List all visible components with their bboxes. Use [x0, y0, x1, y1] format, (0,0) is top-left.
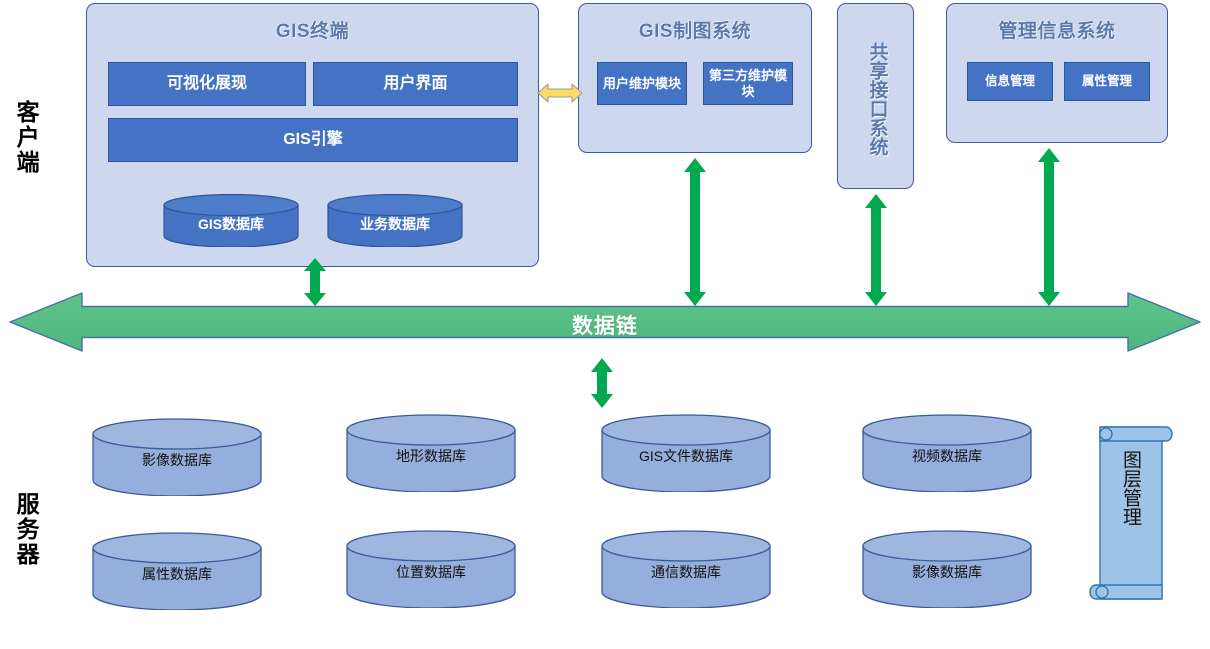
system-title-management-info: 管理信息系统 [947, 16, 1167, 43]
cylinder-shape [92, 532, 262, 610]
system-box-gis-mapping[interactable]: GIS制图系统 用户维护模块 第三方维护模块 [578, 3, 812, 153]
cylinder-shape [327, 194, 463, 247]
zone-label-server: 服务器 [14, 492, 38, 567]
cylinder-shape [601, 530, 771, 608]
server-database-gis-file[interactable]: GIS文件数据库 [601, 414, 771, 492]
cylinder-shape [346, 530, 516, 608]
connector-terminal-to-mapping-arrow [537, 80, 583, 111]
system-title-share-interface: 共享接口系统 [864, 42, 888, 156]
server-database-communication[interactable]: 通信数据库 [601, 530, 771, 608]
server-database-terrain[interactable]: 地形数据库 [346, 414, 516, 492]
double-arrow-horizontal-icon [537, 80, 583, 106]
layer-manager-scroll[interactable]: 图层管理 [1088, 418, 1174, 608]
double-arrow-vertical-icon [863, 194, 889, 306]
architecture-diagram: 客户端 服务器 GIS终端 可视化展现 用户界面 GIS引擎 GIS数据库 业务… [0, 0, 1210, 649]
double-arrow-vertical-icon [589, 358, 615, 408]
layer-manager-label: 图层管理 [1119, 450, 1143, 526]
system-title-gis-mapping: GIS制图系统 [579, 16, 811, 43]
server-database-image[interactable]: 影像数据库 [92, 418, 262, 496]
cylinder-shape [862, 414, 1032, 492]
system-box-share-interface[interactable]: 共享接口系统 [837, 3, 914, 189]
module-third-party-maintenance[interactable]: 第三方维护模块 [703, 62, 793, 105]
datalink-label: 数据链 [8, 310, 1202, 340]
cylinder-shape [346, 414, 516, 492]
database-business[interactable]: 业务数据库 [327, 194, 463, 247]
cylinder-shape [163, 194, 299, 247]
module-attribute-management[interactable]: 属性管理 [1064, 62, 1150, 101]
module-user-interface[interactable]: 用户界面 [313, 62, 518, 106]
cylinder-shape [92, 418, 262, 496]
module-gis-engine[interactable]: GIS引擎 [108, 118, 518, 162]
server-database-attribute[interactable]: 属性数据库 [92, 532, 262, 610]
module-information-management[interactable]: 信息管理 [967, 62, 1053, 101]
connector-datalink-to-servers [589, 358, 615, 413]
double-arrow-vertical-icon [1036, 148, 1062, 306]
server-database-location[interactable]: 位置数据库 [346, 530, 516, 608]
cylinder-shape [601, 414, 771, 492]
double-arrow-vertical-icon [682, 158, 708, 306]
system-box-management-info[interactable]: 管理信息系统 信息管理 属性管理 [946, 3, 1168, 143]
zone-label-client: 客户端 [14, 100, 38, 175]
datalink-bar[interactable]: 数据链 [8, 291, 1202, 353]
system-box-gis-terminal[interactable]: GIS终端 可视化展现 用户界面 GIS引擎 GIS数据库 业务数据库 [86, 3, 539, 267]
module-user-maintenance[interactable]: 用户维护模块 [597, 62, 687, 105]
module-visualization[interactable]: 可视化展现 [108, 62, 306, 106]
system-title-gis-terminal: GIS终端 [87, 16, 538, 43]
connector-mapping-to-datalink [682, 158, 708, 311]
server-database-image-2[interactable]: 影像数据库 [862, 530, 1032, 608]
server-database-video[interactable]: 视频数据库 [862, 414, 1032, 492]
database-gis[interactable]: GIS数据库 [163, 194, 299, 247]
cylinder-shape [862, 530, 1032, 608]
connector-mis-to-datalink [1036, 148, 1062, 311]
